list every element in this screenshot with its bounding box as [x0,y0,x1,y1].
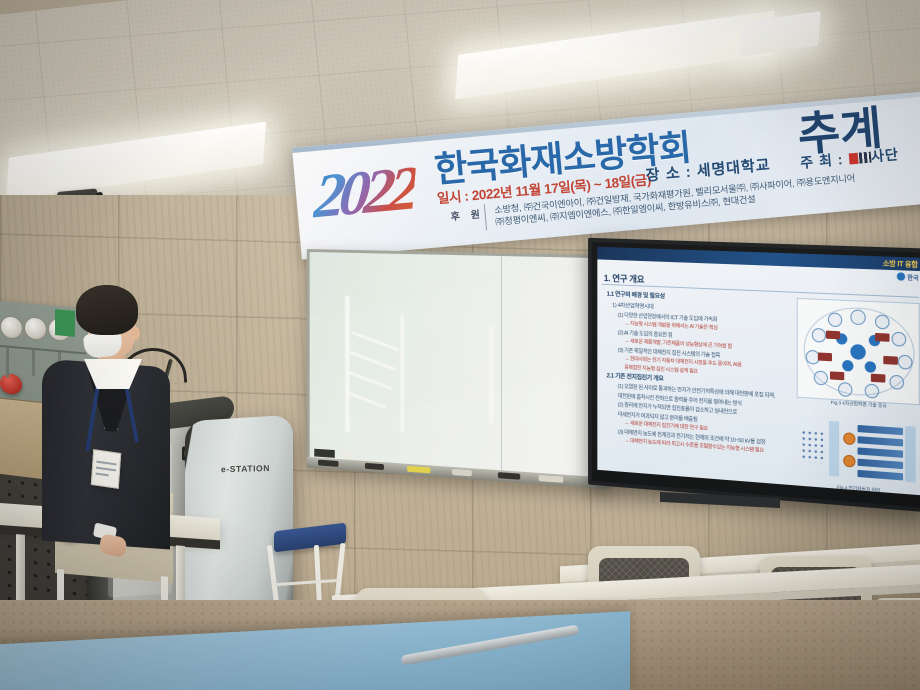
slide-org-logo-text: 한국 [907,276,919,283]
slide-bullet-list: 1.1 연구의 배경 및 필요성1) 4차산업혁명시대(1) 다양한 산업현장에… [607,289,785,457]
org-logo-icon [897,272,905,281]
fire-alarm-bell-icon [0,373,22,395]
year-logo-text: 2022 [311,153,417,234]
presentation-slide: 소방 IT 융합 한국 1. 연구 개요 1.1 연구의 배경 및 필요성1) … [597,247,920,496]
presenter-ear [131,327,140,340]
banner-host-prefix: 주 최 : [800,151,844,171]
presenter [36,285,168,545]
smoke-detector-icon [0,315,23,340]
presentation-display[interactable]: 소방 IT 융합 한국 1. 연구 개요 1.1 연구의 배경 및 필요성1) … [588,238,920,513]
year-logo: 2022 [311,150,430,246]
folding-chair-seat[interactable] [274,523,346,553]
host-logo-mark-icon [849,153,859,165]
whiteboard-surface[interactable] [310,252,607,479]
glass-whiteboard[interactable] [307,249,610,489]
slide-header-text: 소방 IT 융합 [883,258,918,270]
conference-room-scene: 2022 한국화재소방학회 추계 일시 : 2022년 11월 17일(목) ~… [0,0,920,690]
slide-figure-2 [799,415,920,487]
presenter-hair [76,285,138,335]
sponsor-label: 후 원 [450,205,484,223]
slide-figure-1 [797,298,920,405]
slide-org-logo: 한국 [897,272,919,282]
air-purifier-brand-label: e-STATION [221,463,270,474]
presenter-name-badge [91,449,121,489]
banner-host-suffix: 사단 [870,146,899,164]
sponsor-divider [484,204,487,230]
host-logo-bars-icon [859,152,872,164]
